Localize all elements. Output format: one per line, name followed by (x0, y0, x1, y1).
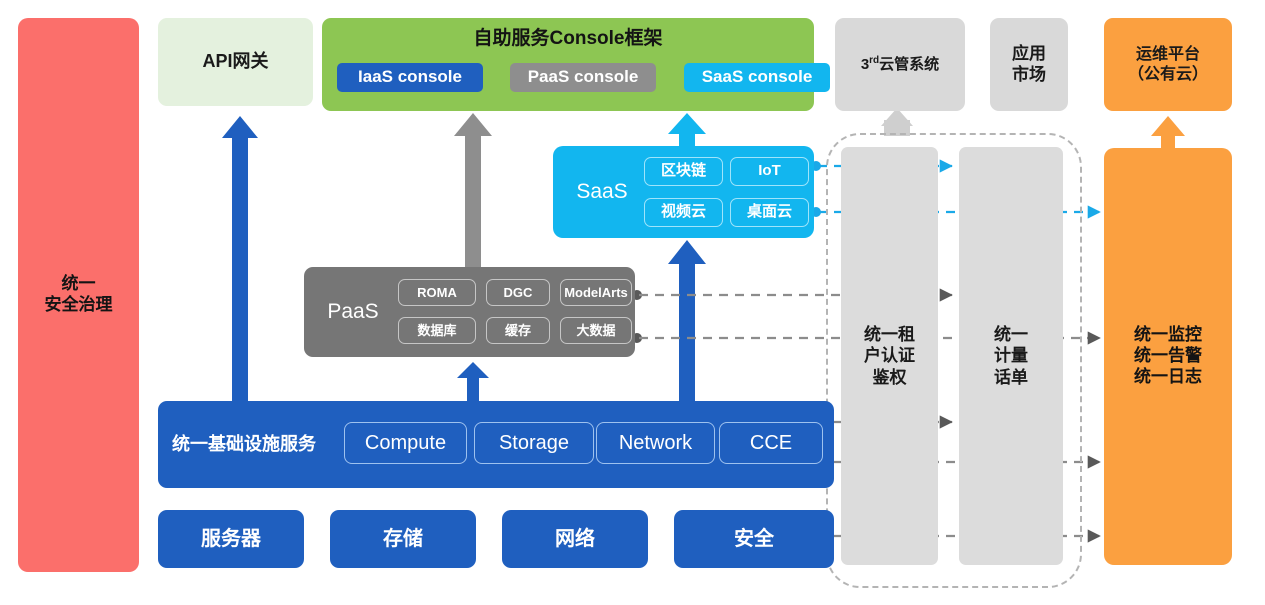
saas-chip-video-cloud[interactable]: 视频云 (644, 198, 723, 227)
arrow-paas-to-console (454, 113, 492, 267)
shared-column-metering-billing-label: 统一 计量 话单 (994, 324, 1028, 387)
api-gateway-box[interactable]: API网关 (158, 18, 313, 106)
infra-chip-network[interactable]: Network (596, 422, 715, 464)
app-marketplace-box[interactable]: 应用 市场 (990, 18, 1068, 111)
paas-chip-database[interactable]: 数据库 (398, 317, 476, 344)
saas-block-label: SaaS (565, 146, 639, 238)
paas-chip-modelarts-label: ModelArts (564, 285, 628, 301)
ops-platform-label: 运维平台 （公有云） (1128, 45, 1208, 84)
infra-chip-compute[interactable]: Compute (344, 422, 467, 464)
paas-chip-roma[interactable]: ROMA (398, 279, 476, 306)
arrow-shared-to-thirdparty (881, 108, 913, 136)
console-frame-title: 自助服务Console框架 (322, 27, 814, 50)
saas-console-label: SaaS console (702, 67, 813, 88)
paas-chip-dgc-label: DGC (504, 285, 533, 301)
iaas-console-chip[interactable]: IaaS console (337, 63, 483, 92)
infra-chip-network-label: Network (619, 431, 692, 455)
resource-box-storage-label: 存储 (383, 527, 423, 551)
architecture-diagram: 统一 安全治理 API网关 自助服务Console框架 IaaS console… (0, 0, 1265, 605)
resource-box-server[interactable]: 服务器 (158, 510, 304, 568)
saas-chip-iot[interactable]: IoT (730, 157, 809, 186)
resource-box-network-label: 网络 (555, 527, 595, 551)
third-party-superscript: rd (869, 55, 879, 66)
resource-box-security-label: 安全 (734, 527, 774, 551)
third-party-cloud-mgmt-box[interactable]: 3rd云管系统 (835, 18, 965, 111)
paas-block-label: PaaS (314, 267, 392, 357)
resource-box-security[interactable]: 安全 (674, 510, 834, 568)
arrow-infra-to-apigw (222, 116, 258, 401)
saas-block[interactable]: SaaS 区块链 IoT 视频云 桌面云 (553, 146, 814, 238)
saas-chip-blockchain[interactable]: 区块链 (644, 157, 723, 186)
saas-console-chip[interactable]: SaaS console (684, 63, 830, 92)
saas-chip-desktop-cloud[interactable]: 桌面云 (730, 198, 809, 227)
infra-chip-cce-label: CCE (750, 431, 792, 455)
arrow-infra-to-saas (668, 240, 706, 401)
saas-chip-desktop-cloud-label: 桌面云 (747, 203, 792, 221)
self-service-console-frame[interactable]: 自助服务Console框架 IaaS console PaaS console … (322, 18, 814, 111)
iaas-console-label: IaaS console (358, 67, 462, 88)
shared-column-tenant-auth-label: 统一租 户认证 鉴权 (864, 324, 915, 387)
infra-chip-storage[interactable]: Storage (474, 422, 594, 464)
arrow-opscolumn-to-opsplatform (1151, 116, 1185, 148)
unified-infrastructure-bar[interactable]: 统一基础设施服务 Compute Storage Network CCE (158, 401, 834, 488)
paas-chip-bigdata[interactable]: 大数据 (560, 317, 632, 344)
paas-chip-cache[interactable]: 缓存 (486, 317, 550, 344)
resource-box-storage[interactable]: 存储 (330, 510, 476, 568)
saas-chip-video-cloud-label: 视频云 (661, 203, 706, 221)
saas-chip-iot-label: IoT (758, 162, 781, 180)
paas-chip-modelarts[interactable]: ModelArts (560, 279, 632, 306)
paas-chip-roma-label: ROMA (417, 285, 457, 301)
paas-chip-bigdata-label: 大数据 (576, 323, 615, 339)
resource-box-server-label: 服务器 (201, 527, 261, 551)
third-party-label: 3rd云管系统 (861, 55, 939, 74)
saas-chip-blockchain-label: 区块链 (661, 162, 706, 180)
arrow-infra-to-paas (457, 362, 489, 401)
infra-chip-cce[interactable]: CCE (719, 422, 823, 464)
third-party-suffix: 云管系统 (879, 56, 939, 73)
app-marketplace-label: 应用 市场 (1012, 44, 1046, 85)
shared-column-metering-billing[interactable]: 统一 计量 话单 (959, 147, 1063, 565)
unified-security-governance-label: 统一 安全治理 (45, 274, 113, 315)
unified-ops-monitoring-label: 统一监控 统一告警 统一日志 (1134, 325, 1202, 387)
paas-console-chip[interactable]: PaaS console (510, 63, 656, 92)
paas-block[interactable]: PaaS ROMA DGC ModelArts 数据库 缓存 大数据 (304, 267, 635, 357)
third-party-prefix: 3 (861, 56, 869, 73)
unified-infrastructure-label: 统一基础设施服务 (172, 401, 316, 488)
shared-column-tenant-auth[interactable]: 统一租 户认证 鉴权 (841, 147, 938, 565)
infra-chip-compute-label: Compute (365, 431, 446, 455)
paas-chip-database-label: 数据库 (417, 323, 456, 339)
unified-security-governance-column[interactable]: 统一 安全治理 (18, 18, 139, 572)
unified-ops-monitoring-column[interactable]: 统一监控 统一告警 统一日志 (1104, 148, 1232, 565)
api-gateway-label: API网关 (202, 51, 268, 73)
paas-console-label: PaaS console (528, 67, 639, 88)
resource-box-network[interactable]: 网络 (502, 510, 648, 568)
paas-chip-dgc[interactable]: DGC (486, 279, 550, 306)
infra-chip-storage-label: Storage (499, 431, 569, 455)
paas-chip-cache-label: 缓存 (505, 323, 531, 339)
ops-platform-public-cloud-box[interactable]: 运维平台 （公有云） (1104, 18, 1232, 111)
arrow-saas-to-console (668, 113, 706, 146)
